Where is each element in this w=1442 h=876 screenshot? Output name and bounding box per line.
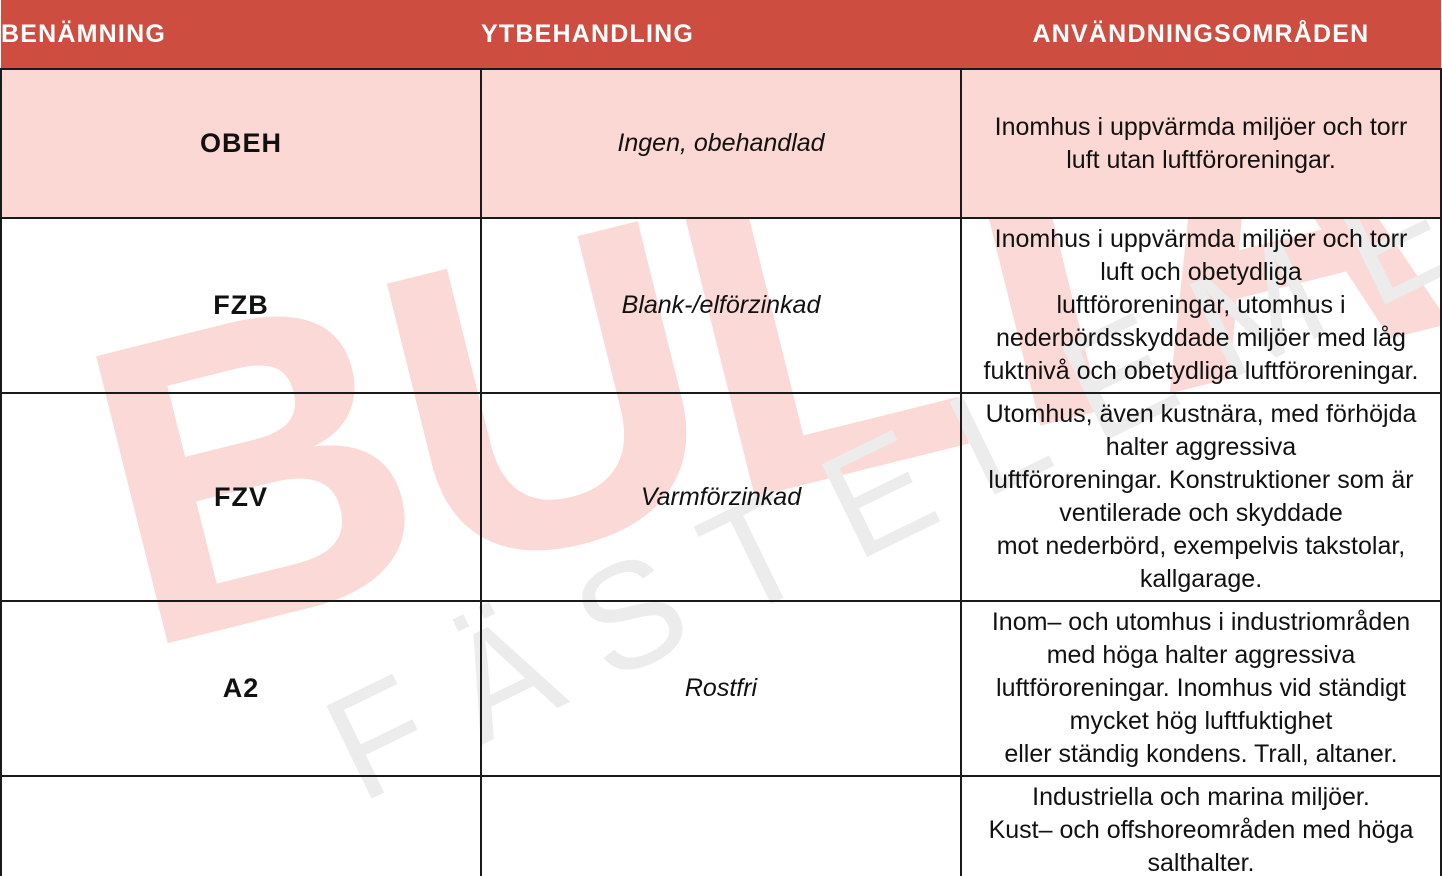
cell-code: OBEH (1, 69, 481, 218)
cell-surface: Rostfri, syrafast (481, 776, 961, 876)
cell-code: FZV (1, 393, 481, 601)
usage-line: luftföroreningar, utomhus i nederbördssk… (976, 289, 1426, 355)
cell-surface: Rostfri (481, 601, 961, 776)
cell-code: FZB (1, 218, 481, 393)
surface-treatment-table: BENÄMNING YTBEHANDLING ANVÄNDNINGSOMRÅDE… (0, 0, 1442, 876)
cell-usage: Inom– och utomhus i industriområden med … (961, 601, 1441, 776)
usage-line: Inomhus i uppvärmda miljöer och torr luf… (976, 223, 1426, 289)
cell-usage: Utomhus, även kustnära, med förhöjda hal… (961, 393, 1441, 601)
surface-treatment-table-page: BULTAB FÄSTELEMENT BENÄMNING YTBEHANDLIN… (0, 0, 1442, 876)
usage-line: eller ständig kondens. Trall, altaner. (976, 738, 1426, 771)
table-row: OBEH Ingen, obehandlad Inomhus i uppvärm… (1, 69, 1441, 218)
usage-line: luftföroreningar. Inomhus vid ständigt m… (976, 672, 1426, 738)
table-container: BENÄMNING YTBEHANDLING ANVÄNDNINGSOMRÅDE… (0, 0, 1442, 876)
usage-line: Industriella och marina miljöer. (976, 781, 1426, 814)
cell-code: A2 (1, 601, 481, 776)
table-body: OBEH Ingen, obehandlad Inomhus i uppvärm… (1, 69, 1441, 876)
table-row: A4 Rostfri, syrafast Industriella och ma… (1, 776, 1441, 876)
usage-line: fuktnivå och obetydliga luftföroreningar… (976, 355, 1426, 388)
usage-line: Inom– och utomhus i industriområden med … (976, 606, 1426, 672)
usage-line: Kust– och offshoreområden med höga salth… (976, 814, 1426, 876)
cell-usage: Industriella och marina miljöer. Kust– o… (961, 776, 1441, 876)
column-header-ytbehandling: YTBEHANDLING (481, 0, 961, 69)
usage-line: Utomhus, även kustnära, med förhöjda hal… (976, 398, 1426, 464)
cell-surface: Varmförzinkad (481, 393, 961, 601)
usage-line: luftföroreningar. Konstruktioner som är … (976, 464, 1426, 530)
table-row: FZB Blank-/elförzinkad Inomhus i uppvärm… (1, 218, 1441, 393)
table-header: BENÄMNING YTBEHANDLING ANVÄNDNINGSOMRÅDE… (1, 0, 1441, 69)
cell-surface: Blank-/elförzinkad (481, 218, 961, 393)
column-header-anvandningsomraden: ANVÄNDNINGSOMRÅDEN (961, 0, 1441, 69)
cell-surface: Ingen, obehandlad (481, 69, 961, 218)
table-row: FZV Varmförzinkad Utomhus, även kustnära… (1, 393, 1441, 601)
usage-line: Inomhus i uppvärmda miljöer och torr luf… (976, 111, 1426, 177)
column-header-benamning: BENÄMNING (1, 0, 481, 69)
cell-usage: Inomhus i uppvärmda miljöer och torr luf… (961, 218, 1441, 393)
usage-line: mot nederbörd, exempelvis takstolar, kal… (976, 530, 1426, 596)
table-row: A2 Rostfri Inom– och utomhus i industrio… (1, 601, 1441, 776)
table-header-row: BENÄMNING YTBEHANDLING ANVÄNDNINGSOMRÅDE… (1, 0, 1441, 69)
cell-code: A4 (1, 776, 481, 876)
cell-usage: Inomhus i uppvärmda miljöer och torr luf… (961, 69, 1441, 218)
